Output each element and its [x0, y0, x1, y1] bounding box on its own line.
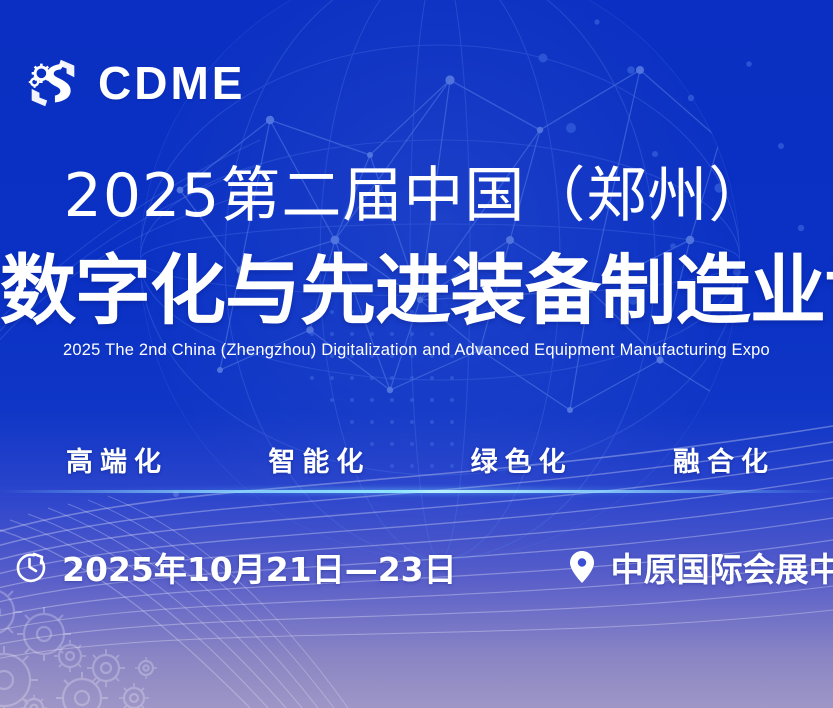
keyword-item: 高端化 [66, 440, 168, 479]
location-pin-icon [567, 549, 597, 585]
brand-logo[interactable]: CDME [22, 52, 245, 114]
keyword-item: 智能化 [268, 440, 370, 479]
footer-info: 2025年10月21日—23日 中原国际会展中心 [0, 536, 833, 598]
headline-line-1: 2025第二届中国（郑州） [0, 166, 833, 226]
brand-name: CDME [98, 60, 245, 106]
keyword-item: 绿色化 [471, 440, 573, 479]
event-venue-text: 中原国际会展中心 [611, 543, 833, 591]
event-date-text: 2025年10月21日—23日 [62, 543, 457, 591]
cdme-gear-s-logo-icon [22, 52, 84, 114]
clock-icon [12, 549, 48, 585]
expo-poster: CDME 2025第二届中国（郑州） 数字化与先进装备制造业博览会 2025 T… [0, 0, 833, 708]
event-date: 2025年10月21日—23日 [12, 543, 457, 591]
glow-divider [0, 486, 833, 496]
headline-english: 2025 The 2nd China (Zhengzhou) Digitaliz… [0, 341, 833, 361]
keyword-row: 高端化 智能化 绿色化 融合化 [48, 440, 785, 479]
event-venue: 中原国际会展中心 [567, 543, 833, 591]
divider-line [0, 490, 833, 493]
headline-line-2: 数字化与先进装备制造业博览会 [0, 253, 833, 329]
keyword-item: 融合化 [673, 440, 775, 479]
